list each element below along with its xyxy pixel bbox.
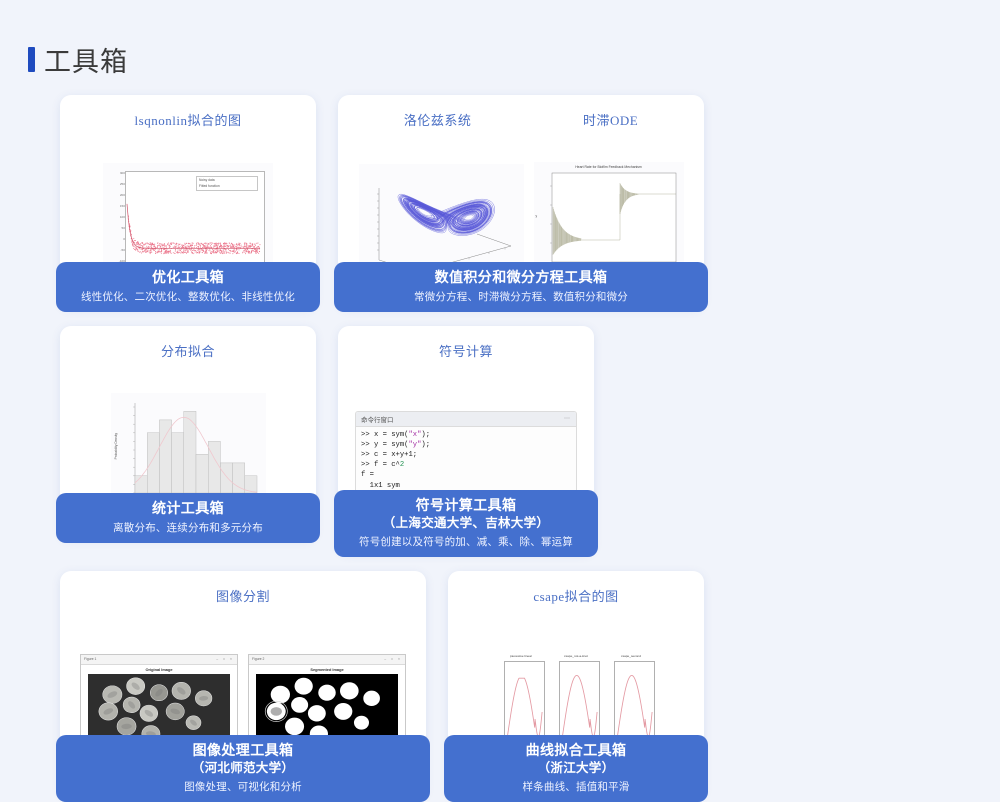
- banner-org: （河北师范大学）: [62, 760, 424, 776]
- figure-titlebar: Figure 1 – □ ×: [81, 655, 237, 665]
- figure-window-title: Figure 1: [84, 657, 96, 661]
- title-accent-bar: [28, 47, 35, 72]
- csape-curve-0: [505, 662, 544, 744]
- card-title-statistics: 分布拟合: [161, 341, 215, 360]
- card-optimization[interactable]: lsqnonlin拟合的图 300 250 200 150 100 50 0 -…: [60, 95, 316, 308]
- banner-optimization: 优化工具箱 线性优化、二次优化、整数优化、非线性优化: [56, 262, 320, 313]
- banner-title: 图像处理工具箱: [62, 742, 424, 760]
- page-header: 工具箱: [28, 40, 128, 79]
- lorenz-attractor-plot: [359, 164, 524, 276]
- banner-title: 优化工具箱: [62, 269, 314, 287]
- delay-ode-svg: [534, 162, 684, 277]
- delay-ode-plot: Heart Rate for Biofilm Feedback Mechanis…: [534, 162, 684, 277]
- figure-window-title: Figure 2: [252, 657, 264, 661]
- csape-subplot-title: piecewise linear: [495, 654, 547, 658]
- banner-statistics: 统计工具箱 离散分布、连续分布和多元分布: [56, 493, 320, 544]
- window-controls-icon[interactable]: – □ ×: [384, 657, 402, 661]
- card-image-processing[interactable]: 图像分割 Figure 1 – □ × Original Image: [60, 571, 426, 798]
- command-window-titlebar: 命令行窗口 ⋯: [356, 412, 576, 427]
- banner-subtitle: 离散分布、连续分布和多元分布: [62, 520, 314, 535]
- csape-frame: [559, 661, 600, 745]
- banner-org: （上海交通大学、吉林大学）: [340, 515, 592, 531]
- csape-frame: [614, 661, 655, 745]
- legend-entry-1: Fitted function: [199, 184, 255, 190]
- figure-plot-title: Original Image: [81, 667, 237, 672]
- card-curve-fitting[interactable]: csape拟合的图 piecewise linear csape_not-a-k…: [448, 571, 704, 798]
- delay-ode-title: Heart Rate for Biofilm Feedback Mechanis…: [534, 165, 684, 169]
- card-ode[interactable]: 洛伦兹系统 时滞ODE: [338, 95, 704, 308]
- banner-subtitle: 样条曲线、插值和平滑: [450, 779, 702, 794]
- card-titles-ode: 洛伦兹系统 时滞ODE: [348, 110, 694, 129]
- banner-subtitle: 常微分方程、时滞微分方程、数值积分和微分: [340, 289, 702, 304]
- plot-legend: Noisy data Fitted function: [196, 176, 258, 191]
- console-line: >> y = sym("y");: [361, 440, 571, 450]
- banner-subtitle: 图像处理、可视化和分析: [62, 779, 424, 794]
- csape-curve-1: [560, 662, 599, 744]
- more-options-icon[interactable]: ⋯: [564, 415, 571, 422]
- banner-symbolic: 符号计算工具箱 （上海交通大学、吉林大学） 符号创建以及符号的加、减、乘、除、幂…: [334, 490, 598, 557]
- lorenz-svg: [359, 164, 524, 276]
- slide-root: 工具箱 lsqnonlin拟合的图 300 250 200 150 100 50…: [0, 0, 1000, 564]
- console-line: >> c = x+y+1;: [361, 450, 571, 460]
- page-title: 工具箱: [44, 40, 128, 79]
- figure-plot-title: Segmented Image: [249, 667, 405, 672]
- banner-image-processing: 图像处理工具箱 （河北师范大学） 图像处理、可视化和分析: [56, 735, 430, 802]
- card-statistics[interactable]: 分布拟合 Time to Failure Probability Density…: [60, 326, 316, 539]
- console-line: >> f = c^2: [361, 460, 571, 470]
- toolbox-card-grid: lsqnonlin拟合的图 300 250 200 150 100 50 0 -…: [60, 95, 960, 798]
- banner-title: 曲线拟合工具箱: [450, 742, 702, 760]
- command-window-tab-label[interactable]: 命令行窗口: [361, 414, 394, 424]
- console-line: f =: [361, 470, 571, 480]
- banner-title: 统计工具箱: [62, 500, 314, 518]
- banner-subtitle: 线性优化、二次优化、整数优化、非线性优化: [62, 289, 314, 304]
- card-title-image-segmentation: 图像分割: [216, 586, 270, 605]
- csape-subplot-title: csape_second: [605, 654, 657, 658]
- banner-title: 数值积分和微分方程工具箱: [340, 269, 702, 287]
- banner-ode: 数值积分和微分方程工具箱 常微分方程、时滞微分方程、数值积分和微分: [334, 262, 708, 313]
- console-line: >> x = sym("x");: [361, 430, 571, 440]
- window-controls-icon[interactable]: – □ ×: [216, 657, 234, 661]
- card-title-csape: csape拟合的图: [533, 586, 618, 605]
- plot-frame: Noisy data Fitted function: [125, 171, 265, 263]
- hist-ylabel: Probability Density: [114, 433, 118, 459]
- delay-ode-ylabel: y: [536, 214, 538, 218]
- card-symbolic[interactable]: 符号计算 命令行窗口 ⋯ >> x = sym("x"); >> y = sym…: [338, 326, 594, 553]
- card-title-delay-ode: 时滞ODE: [583, 110, 638, 129]
- banner-title: 符号计算工具箱: [340, 497, 592, 515]
- banner-curve-fitting: 曲线拟合工具箱 （浙江大学） 样条曲线、插值和平滑: [444, 735, 708, 802]
- card-title-symbolic: 符号计算: [439, 341, 493, 360]
- csape-subplot-title: csape_not-a-knot: [550, 654, 602, 658]
- csape-curve-2: [615, 662, 654, 744]
- card-title-optimization: lsqnonlin拟合的图: [135, 110, 242, 129]
- y-axis-ticks: 300 250 200 150 100 50 0 -50 -100: [113, 171, 125, 263]
- banner-org: （浙江大学）: [450, 760, 702, 776]
- figure-titlebar: Figure 2 – □ ×: [249, 655, 405, 665]
- card-title-lorenz: 洛伦兹系统: [404, 110, 472, 129]
- banner-subtitle: 符号创建以及符号的加、减、乘、除、幂运算: [340, 534, 592, 549]
- csape-frame: [504, 661, 545, 745]
